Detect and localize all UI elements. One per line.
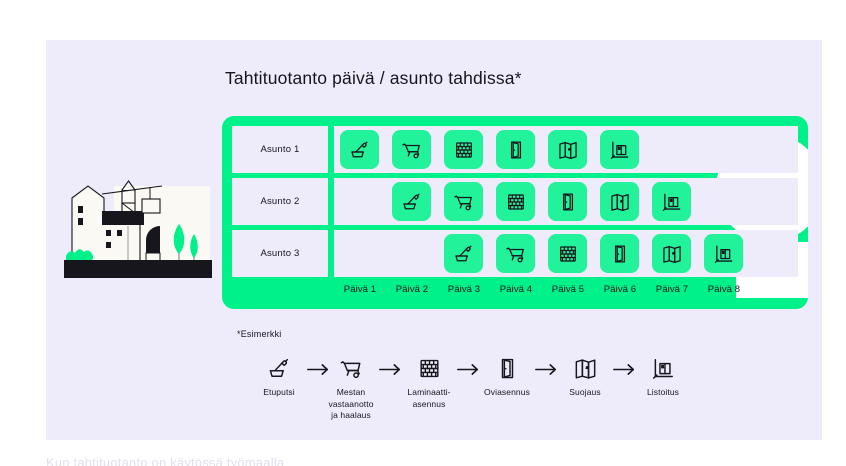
wheelbarrow-icon: [401, 139, 423, 161]
schedule-rows: Asunto 1Asunto 2Asunto 3: [232, 126, 798, 282]
row-track: [334, 230, 798, 277]
trowel-icon: [267, 356, 292, 381]
page-title: Tahtituotanto päivä / asunto tahdissa*: [225, 68, 522, 89]
day-label-3: Päivä 3: [438, 284, 490, 295]
task-cell-door-icon[interactable]: [600, 234, 639, 273]
row-track: [334, 126, 798, 173]
schedule-row: Asunto 2: [232, 178, 798, 225]
wheelbarrow-icon: [339, 356, 364, 381]
moulding-icon: [713, 243, 735, 265]
moulding-icon: [661, 191, 683, 213]
task-cell-protection-icon[interactable]: [652, 234, 691, 273]
row-label-2: Asunto 2: [232, 178, 328, 225]
day-label-1: Päivä 1: [334, 284, 386, 295]
task-cell-moulding-icon[interactable]: [704, 234, 743, 273]
wheelbarrow-icon: [453, 191, 475, 213]
protection-icon: [609, 191, 631, 213]
process-legend: EtuputsiMestanvastaanottoja haalausLamin…: [237, 353, 717, 415]
task-cell-moulding-icon[interactable]: [600, 130, 639, 169]
moulding-icon: [651, 356, 676, 381]
construction-site-illustration: [62, 168, 214, 280]
row-label-1: Asunto 1: [232, 126, 328, 173]
task-cell-wheelbarrow-icon[interactable]: [496, 234, 535, 273]
legend-step-label: Listoitus: [621, 387, 705, 399]
legend-step-label: Suojaus: [543, 387, 627, 399]
task-cell-laminate-icon[interactable]: [496, 182, 535, 221]
day-label-5: Päivä 5: [542, 284, 594, 295]
legend-step-moulding-icon[interactable]: Listoitus: [621, 353, 705, 399]
protection-icon: [557, 139, 579, 161]
task-cell-wheelbarrow-icon[interactable]: [444, 182, 483, 221]
moulding-icon-wrapper: [621, 353, 705, 383]
trowel-icon: [349, 139, 371, 161]
task-cell-laminate-icon[interactable]: [444, 130, 483, 169]
row-track: [334, 178, 798, 225]
day-axis: Päivä 1Päivä 2Päivä 3Päivä 4Päivä 5Päivä…: [334, 284, 800, 302]
day-label-4: Päivä 4: [490, 284, 542, 295]
task-cell-trowel-icon[interactable]: [392, 182, 431, 221]
day-label-7: Päivä 7: [646, 284, 698, 295]
task-cell-wheelbarrow-icon[interactable]: [392, 130, 431, 169]
task-cell-moulding-icon[interactable]: [652, 182, 691, 221]
laminate-icon: [453, 139, 475, 161]
protection-icon: [661, 243, 683, 265]
protection-icon: [573, 356, 598, 381]
day-label-2: Päivä 2: [386, 284, 438, 295]
door-icon: [609, 243, 631, 265]
legend-step-label: Laminaatti-asennus: [387, 387, 471, 410]
day-label-6: Päivä 6: [594, 284, 646, 295]
legend-step-label: Oviasennus: [465, 387, 549, 399]
schedule-row: Asunto 1: [232, 126, 798, 173]
moulding-icon: [609, 139, 631, 161]
task-cell-laminate-icon[interactable]: [548, 234, 587, 273]
schedule-panel: Asunto 1Asunto 2Asunto 3 Päivä 1Päivä 2P…: [222, 116, 808, 309]
laminate-icon: [505, 191, 527, 213]
schedule-row: Asunto 3: [232, 230, 798, 277]
task-cell-trowel-icon[interactable]: [444, 234, 483, 273]
legend-step-label: Mestanvastaanottoja haalaus: [309, 387, 393, 422]
screenshot-root: Tahtituotanto päivä / asunto tahdissa* A…: [0, 0, 846, 466]
door-icon: [495, 356, 520, 381]
task-cell-door-icon[interactable]: [496, 130, 535, 169]
cut-off-caption: Kun tahtituotanto on käytössä työmaalla: [46, 455, 546, 466]
wheelbarrow-icon: [505, 243, 527, 265]
task-cell-protection-icon[interactable]: [548, 130, 587, 169]
footnote: *Esimerkki: [237, 329, 282, 339]
door-icon: [505, 139, 527, 161]
task-cell-door-icon[interactable]: [548, 182, 587, 221]
task-cell-trowel-icon[interactable]: [340, 130, 379, 169]
row-label-3: Asunto 3: [232, 230, 328, 277]
task-cell-protection-icon[interactable]: [600, 182, 639, 221]
laminate-icon: [417, 356, 442, 381]
door-icon: [557, 191, 579, 213]
trowel-icon: [401, 191, 423, 213]
trowel-icon: [453, 243, 475, 265]
laminate-icon: [557, 243, 579, 265]
day-label-8: Päivä 8: [698, 284, 750, 295]
